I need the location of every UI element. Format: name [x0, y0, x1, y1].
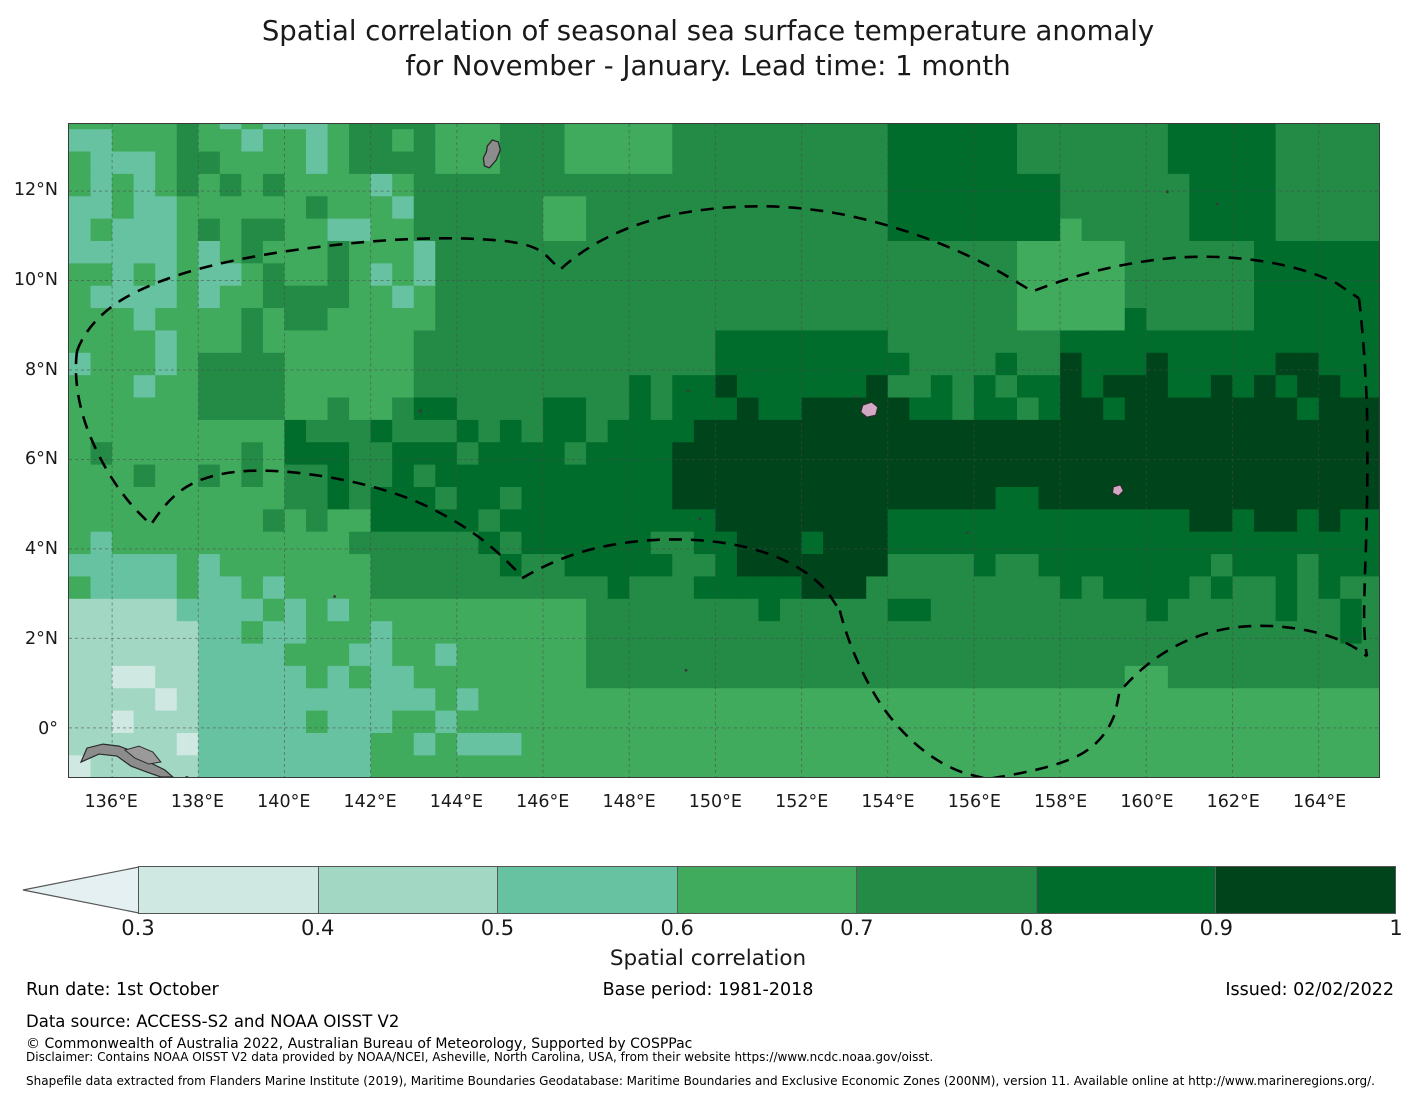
heatmap-cell — [931, 285, 953, 308]
heatmap-cell — [974, 710, 996, 733]
heatmap-cell — [1125, 620, 1147, 643]
heatmap-cell — [435, 352, 457, 375]
heatmap-cell — [694, 218, 716, 241]
heatmap-cell — [651, 531, 673, 554]
heatmap-cell — [995, 173, 1017, 196]
heatmap-cell — [284, 732, 306, 755]
heatmap-cell — [1039, 509, 1061, 532]
x-tick-label: 156°E — [934, 792, 1014, 812]
heatmap-cell — [608, 710, 630, 733]
heatmap-cell — [802, 128, 824, 151]
heatmap-cell — [715, 128, 737, 151]
heatmap-cell — [737, 151, 759, 174]
heatmap-cell — [608, 263, 630, 286]
heatmap-cell — [737, 128, 759, 151]
heatmap-cell — [780, 665, 802, 688]
heatmap-cell — [608, 442, 630, 465]
heatmap-cell — [715, 620, 737, 643]
heatmap-cell — [1297, 688, 1319, 711]
heatmap-cell — [155, 688, 177, 711]
heatmap-cell — [521, 732, 543, 755]
heatmap-cell — [457, 124, 479, 129]
heatmap-cell — [995, 352, 1017, 375]
heatmap-cell — [1319, 710, 1341, 733]
heatmap-cell — [263, 285, 285, 308]
heatmap-cell — [177, 352, 199, 375]
heatmap-cell — [909, 531, 931, 554]
heatmap-cell — [284, 531, 306, 554]
heatmap-cell — [629, 710, 651, 733]
heatmap-cell — [1362, 397, 1379, 420]
heatmap-cell — [521, 643, 543, 666]
heatmap-cell — [1103, 124, 1125, 129]
heatmap-cell — [995, 419, 1017, 442]
heatmap-cell — [866, 173, 888, 196]
heatmap-cell — [91, 128, 113, 151]
heatmap-cell — [608, 665, 630, 688]
heatmap-cell — [1362, 442, 1379, 465]
heatmap-cell — [220, 128, 242, 151]
heatmap-cell — [715, 553, 737, 576]
heatmap-cell — [1276, 509, 1298, 532]
heatmap-cell — [1189, 755, 1211, 777]
heatmap-cell — [1168, 755, 1190, 777]
heatmap-cell — [1340, 128, 1362, 151]
heatmap-cell — [780, 124, 802, 129]
heatmap-cell — [1254, 330, 1276, 353]
heatmap-cell — [112, 124, 134, 129]
heatmap-cell — [306, 620, 328, 643]
heatmap-cell — [457, 710, 479, 733]
heatmap-cell — [1297, 128, 1319, 151]
heatmap-cell — [565, 151, 587, 174]
heatmap-cell — [1232, 442, 1254, 465]
heatmap-cell — [672, 128, 694, 151]
heatmap-cell — [349, 151, 371, 174]
heatmap-cell — [931, 124, 953, 129]
heatmap-cell — [952, 285, 974, 308]
heatmap-cell — [737, 352, 759, 375]
heatmap-cell — [565, 218, 587, 241]
heatmap-cell — [1232, 307, 1254, 330]
heatmap-cell — [715, 419, 737, 442]
heatmap-cell — [737, 665, 759, 688]
heatmap-cell — [823, 620, 845, 643]
heatmap-cell — [177, 124, 199, 129]
heatmap-cell — [1211, 442, 1233, 465]
heatmap-cell — [931, 531, 953, 554]
heatmap-cell — [91, 263, 113, 286]
heatmap-cell — [543, 240, 565, 263]
heatmap-cell — [909, 419, 931, 442]
heatmap-cell — [521, 486, 543, 509]
y-tick-label: 2°N — [0, 629, 58, 649]
heatmap-cell — [1146, 755, 1168, 777]
heatmap-cell — [845, 419, 867, 442]
heatmap-cell — [866, 620, 888, 643]
heatmap-cell — [1103, 620, 1125, 643]
heatmap-cell — [284, 218, 306, 241]
heatmap-cell — [909, 285, 931, 308]
heatmap-cell — [737, 218, 759, 241]
heatmap-cell — [1340, 509, 1362, 532]
heatmap-cell — [220, 330, 242, 353]
heatmap-cell — [1039, 307, 1061, 330]
heatmap-cell — [758, 576, 780, 599]
heatmap-cell — [220, 124, 242, 129]
heatmap-cell — [1060, 620, 1082, 643]
heatmap-cell — [241, 419, 263, 442]
heatmap-cell — [1211, 151, 1233, 174]
heatmap-cell — [823, 285, 845, 308]
heatmap-cell — [263, 688, 285, 711]
heatmap-cell — [1039, 240, 1061, 263]
heatmap-cell — [91, 598, 113, 621]
heatmap-cell — [220, 620, 242, 643]
heatmap-cell — [694, 419, 716, 442]
heatmap-cell — [1254, 531, 1276, 554]
heatmap-cell — [823, 464, 845, 487]
heatmap-cell — [1146, 665, 1168, 688]
heatmap-cell — [1276, 531, 1298, 554]
heatmap-cell — [802, 240, 824, 263]
heatmap-cell — [435, 665, 457, 688]
heatmap-cell — [521, 151, 543, 174]
heatmap-cell — [1039, 665, 1061, 688]
heatmap-cell — [91, 419, 113, 442]
heatmap-cell — [134, 710, 156, 733]
heatmap-cell — [241, 330, 263, 353]
heatmap-cell — [155, 665, 177, 688]
heatmap-cell — [177, 598, 199, 621]
heatmap-cell — [672, 330, 694, 353]
heatmap-cell — [306, 486, 328, 509]
heatmap-cell — [1060, 442, 1082, 465]
heatmap-cell — [586, 151, 608, 174]
heatmap-cell — [306, 397, 328, 420]
heatmap-cell — [1060, 643, 1082, 666]
page-title: Spatial correlation of seasonal sea surf… — [0, 14, 1416, 84]
heatmap-cell — [974, 665, 996, 688]
heatmap-cell — [1168, 128, 1190, 151]
heatmap-cell — [888, 263, 910, 286]
heatmap-cell — [888, 240, 910, 263]
heatmap-cell — [91, 531, 113, 554]
heatmap-cell — [414, 643, 436, 666]
heatmap-cell — [995, 486, 1017, 509]
heatmap-cell — [565, 419, 587, 442]
heatmap-cell — [392, 732, 414, 755]
heatmap-cell — [715, 285, 737, 308]
heatmap-cell — [371, 352, 393, 375]
heatmap-cell — [909, 263, 931, 286]
heatmap-cell — [177, 397, 199, 420]
heatmap-cell — [543, 732, 565, 755]
heatmap-cell — [1060, 352, 1082, 375]
heatmap-cell — [909, 128, 931, 151]
heatmap-cell — [651, 643, 673, 666]
heatmap-cell — [1254, 486, 1276, 509]
heatmap-cell — [758, 263, 780, 286]
heatmap-cell — [715, 665, 737, 688]
heatmap-cell — [672, 464, 694, 487]
heatmap-cell — [1146, 464, 1168, 487]
heatmap-cell — [995, 307, 1017, 330]
heatmap-cell — [435, 128, 457, 151]
heatmap-cell — [1168, 688, 1190, 711]
heatmap-cell — [284, 419, 306, 442]
heatmap-cell — [435, 620, 457, 643]
heatmap-cell — [1319, 665, 1341, 688]
heatmap-cell — [1254, 128, 1276, 151]
heatmap-cell — [866, 330, 888, 353]
heatmap-cell — [414, 397, 436, 420]
heatmap-cell — [435, 688, 457, 711]
heatmap-cell — [177, 218, 199, 241]
heatmap-cell — [500, 124, 522, 129]
heatmap-cell — [177, 240, 199, 263]
heatmap-cell — [349, 486, 371, 509]
heatmap-cell — [1362, 173, 1379, 196]
heatmap-cell — [1060, 128, 1082, 151]
heatmap-cell — [457, 732, 479, 755]
map-plot-area[interactable] — [68, 123, 1380, 778]
colorbar-tick-label: 0.8 — [992, 916, 1082, 940]
heatmap-cell — [1319, 173, 1341, 196]
heatmap-cell — [909, 732, 931, 755]
heatmap-cell — [931, 419, 953, 442]
heatmap-cell — [995, 397, 1017, 420]
heatmap-cell — [651, 124, 673, 129]
heatmap-cell — [866, 509, 888, 532]
heatmap-cell — [1362, 643, 1379, 666]
heatmap-cell — [565, 442, 587, 465]
heatmap-cell — [91, 240, 113, 263]
heatmap-cell — [866, 710, 888, 733]
heatmap-cell — [306, 173, 328, 196]
heatmap-cell — [995, 124, 1017, 129]
heatmap-cell — [1168, 218, 1190, 241]
heatmap-cell — [1082, 151, 1104, 174]
x-tick-label: 152°E — [762, 792, 842, 812]
heatmap-cell — [952, 374, 974, 397]
heatmap-cell — [414, 464, 436, 487]
heatmap-cell — [349, 128, 371, 151]
heatmap-cell — [715, 374, 737, 397]
heatmap-cell — [478, 352, 500, 375]
heatmap-cell — [1060, 374, 1082, 397]
heatmap-cell — [1189, 124, 1211, 129]
heatmap-cell — [371, 620, 393, 643]
heatmap-cell — [758, 128, 780, 151]
heatmap-cell — [629, 665, 651, 688]
heatmap-cell — [521, 307, 543, 330]
heatmap-cell — [995, 151, 1017, 174]
heatmap-cell — [651, 374, 673, 397]
heatmap-cell — [435, 307, 457, 330]
heatmap-cell — [1297, 397, 1319, 420]
heatmap-cell — [328, 598, 350, 621]
heatmap-cell — [284, 442, 306, 465]
heatmap-cell — [608, 128, 630, 151]
heatmap-cell — [931, 196, 953, 219]
heatmap-cell — [1319, 620, 1341, 643]
heatmap-cell — [888, 330, 910, 353]
heatmap-cell — [435, 643, 457, 666]
heatmap-cell — [1125, 307, 1147, 330]
heatmap-cell — [1039, 688, 1061, 711]
heatmap-cell — [112, 151, 134, 174]
heatmap-cell — [371, 263, 393, 286]
heatmap-cell — [69, 173, 91, 196]
heatmap-cell — [1060, 124, 1082, 129]
heatmap-cell — [1060, 419, 1082, 442]
heatmap-cell — [780, 531, 802, 554]
heatmap-cell — [1082, 710, 1104, 733]
y-tick-label: 12°N — [0, 180, 58, 200]
heatmap-cell — [69, 509, 91, 532]
heatmap-cell — [586, 285, 608, 308]
heatmap-cell — [241, 576, 263, 599]
heatmap-cell — [328, 643, 350, 666]
heatmap-cell — [974, 307, 996, 330]
heatmap-cell — [177, 307, 199, 330]
heatmap-cell — [284, 620, 306, 643]
heatmap-cell — [1189, 688, 1211, 711]
heatmap-cell — [1362, 240, 1379, 263]
heatmap-cell — [177, 374, 199, 397]
heatmap-cell — [263, 352, 285, 375]
heatmap-cell — [1017, 598, 1039, 621]
heatmap-cell — [888, 397, 910, 420]
heatmap-cell — [1060, 531, 1082, 554]
heatmap-cell — [328, 173, 350, 196]
heatmap-cell — [823, 442, 845, 465]
heatmap-cell — [543, 151, 565, 174]
heatmap-cell — [263, 374, 285, 397]
heatmap-cell — [500, 196, 522, 219]
heatmap-cell — [284, 509, 306, 532]
heatmap-cell — [263, 598, 285, 621]
heatmap-cell — [112, 307, 134, 330]
heatmap-cell — [457, 307, 479, 330]
heatmap-cell — [780, 442, 802, 465]
heatmap-cell — [155, 397, 177, 420]
heatmap-cell — [1254, 553, 1276, 576]
heatmap-cell — [457, 620, 479, 643]
heatmap-cell — [995, 598, 1017, 621]
heatmap-cell — [1017, 285, 1039, 308]
heatmap-cell — [586, 352, 608, 375]
heatmap-cell — [177, 620, 199, 643]
heatmap-cell — [952, 598, 974, 621]
heatmap-cell — [284, 688, 306, 711]
heatmap-cell — [694, 374, 716, 397]
heatmap-cell — [1276, 442, 1298, 465]
heatmap-cell — [1168, 531, 1190, 554]
heatmap-cell — [1189, 128, 1211, 151]
heatmap-cell — [608, 307, 630, 330]
heatmap-cell — [521, 442, 543, 465]
heatmap-cell — [435, 397, 457, 420]
heatmap-cell — [1168, 263, 1190, 286]
heatmap-cell — [457, 576, 479, 599]
heatmap-cell — [1362, 755, 1379, 777]
heatmap-cell — [1060, 732, 1082, 755]
heatmap-cell — [1276, 688, 1298, 711]
heatmap-cell — [823, 374, 845, 397]
heatmap-cell — [1189, 665, 1211, 688]
heatmap-cell — [500, 620, 522, 643]
heatmap-cell — [1125, 732, 1147, 755]
heatmap-cell — [1297, 419, 1319, 442]
heatmap-cell — [952, 218, 974, 241]
heatmap-cell — [457, 285, 479, 308]
heatmap-cell — [1340, 173, 1362, 196]
heatmap-cell — [1276, 464, 1298, 487]
heatmap-cell — [1125, 128, 1147, 151]
heatmap-cell — [91, 330, 113, 353]
heatmap-cell — [1254, 196, 1276, 219]
heatmap-cell — [1189, 576, 1211, 599]
heatmap-cell — [112, 218, 134, 241]
heatmap-cell — [241, 397, 263, 420]
heatmap-cell — [1039, 553, 1061, 576]
heatmap-cell — [694, 263, 716, 286]
heatmap-cell — [758, 374, 780, 397]
heatmap-cell — [1039, 576, 1061, 599]
heatmap-cell — [802, 598, 824, 621]
heatmap-cell — [952, 419, 974, 442]
heatmap-cell — [155, 218, 177, 241]
heatmap-cell — [263, 620, 285, 643]
heatmap-cell — [1254, 665, 1276, 688]
heatmap-cell — [457, 128, 479, 151]
heatmap-cell — [1168, 509, 1190, 532]
heatmap-cell — [1319, 509, 1341, 532]
colorbar-band — [857, 867, 1037, 913]
heatmap-cell — [500, 285, 522, 308]
heatmap-cell — [414, 665, 436, 688]
heatmap-cell — [909, 576, 931, 599]
heatmap-cell — [112, 330, 134, 353]
heatmap-cell — [457, 263, 479, 286]
heatmap-cell — [1125, 263, 1147, 286]
heatmap-cell — [241, 128, 263, 151]
heatmap-cell — [672, 263, 694, 286]
heatmap-cell — [543, 486, 565, 509]
heatmap-cell — [715, 732, 737, 755]
heatmap-cell — [263, 710, 285, 733]
heatmap-cell — [952, 352, 974, 375]
heatmap-cell — [608, 688, 630, 711]
heatmap-cell — [758, 352, 780, 375]
heatmap-cell — [1297, 285, 1319, 308]
heatmap-cell — [1082, 240, 1104, 263]
heatmap-cell — [1254, 732, 1276, 755]
heatmap-cell — [952, 553, 974, 576]
heatmap-cell — [909, 196, 931, 219]
heatmap-cell — [1340, 374, 1362, 397]
heatmap-cell — [802, 307, 824, 330]
heatmap-cell — [888, 576, 910, 599]
heatmap-cell — [758, 732, 780, 755]
x-tick-label: 158°E — [1021, 792, 1101, 812]
heatmap-cell — [758, 173, 780, 196]
heatmap-cell — [112, 263, 134, 286]
heatmap-cell — [1319, 240, 1341, 263]
heatmap-cell — [392, 397, 414, 420]
